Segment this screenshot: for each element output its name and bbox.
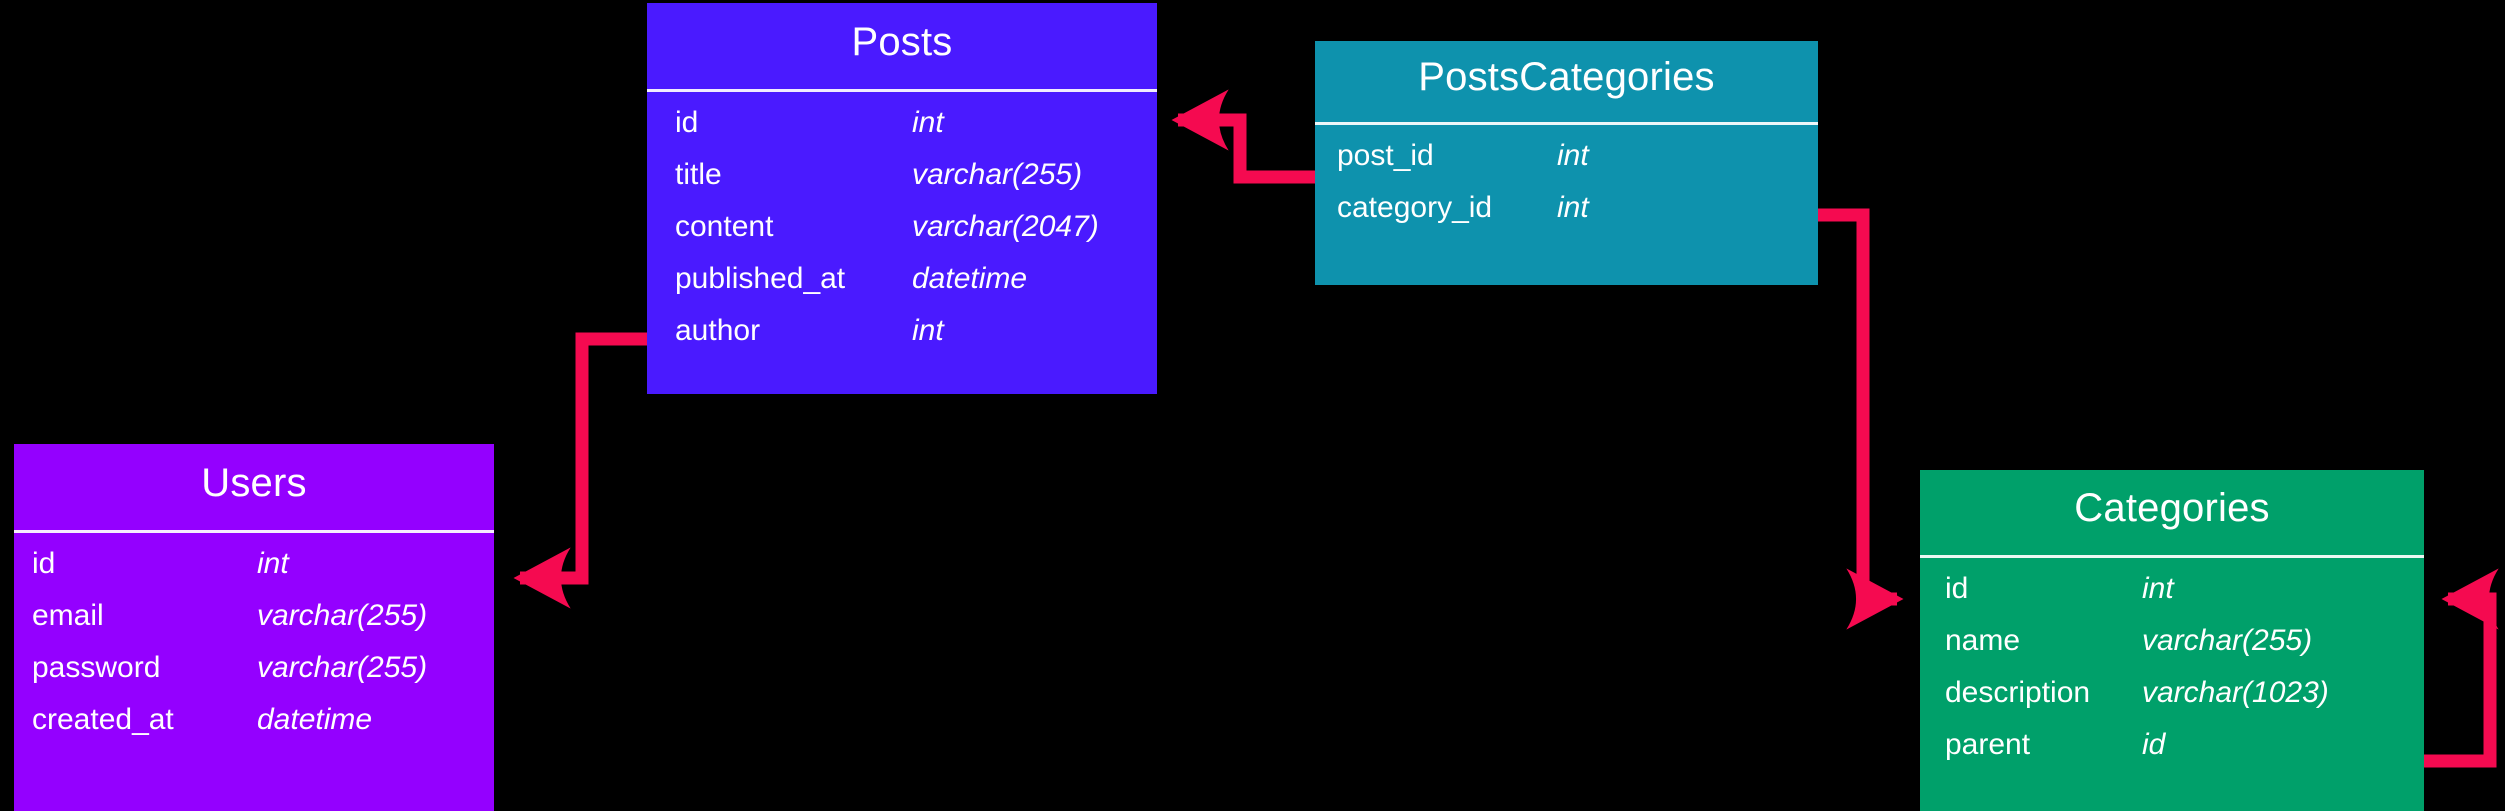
entity-title-postscategories: PostsCategories: [1315, 41, 1818, 122]
entity-table-posts[interactable]: Postsidinttitlevarchar(255)contentvarcha…: [647, 3, 1157, 394]
entity-table-categories[interactable]: Categoriesidintnamevarchar(255)descripti…: [1920, 470, 2424, 811]
field-name: published_at: [675, 264, 845, 294]
entity-title-users: Users: [14, 444, 494, 530]
field-name: id: [1945, 574, 1968, 604]
field-name: password: [32, 653, 160, 683]
entity-table-users[interactable]: Usersidintemailvarchar(255)passwordvarch…: [14, 444, 494, 811]
field-name: email: [32, 601, 104, 631]
field-type: varchar(1023): [2142, 678, 2329, 708]
field-name: id: [32, 549, 55, 579]
field-type: varchar(255): [257, 601, 427, 631]
field-type: varchar(255): [2142, 626, 2312, 656]
entity-title-posts: Posts: [647, 3, 1157, 89]
field-type: varchar(2047): [912, 212, 1099, 242]
field-type: int: [912, 316, 944, 346]
relationship-postscategories-post-id-to-posts-id[interactable]: [1178, 120, 1315, 177]
field-type: varchar(255): [912, 160, 1082, 190]
entity-fields-postscategories: post_idintcategory_idint: [1315, 125, 1818, 285]
field-name: created_at: [32, 705, 174, 735]
field-type: int: [1557, 141, 1589, 171]
field-type: int: [257, 549, 289, 579]
field-name: post_id: [1337, 141, 1434, 171]
relationship-posts-author-to-users-id[interactable]: [520, 339, 647, 578]
field-name: name: [1945, 626, 2020, 656]
entity-fields-users: idintemailvarchar(255)passwordvarchar(25…: [14, 533, 494, 811]
field-type: int: [1557, 193, 1589, 223]
field-name: title: [675, 160, 722, 190]
entity-table-postscategories[interactable]: PostsCategoriespost_idintcategory_idint: [1315, 41, 1818, 285]
field-name: author: [675, 316, 760, 346]
field-type: int: [2142, 574, 2174, 604]
field-type: varchar(255): [257, 653, 427, 683]
relationship-postscategories-category-id-to-categories-id[interactable]: [1818, 215, 1897, 599]
field-type: datetime: [912, 264, 1027, 294]
field-name: description: [1945, 678, 2090, 708]
field-name: category_id: [1337, 193, 1492, 223]
entity-fields-posts: idinttitlevarchar(255)contentvarchar(204…: [647, 92, 1157, 394]
er-diagram-canvas: Postsidinttitlevarchar(255)contentvarcha…: [0, 0, 2505, 811]
entity-fields-categories: idintnamevarchar(255)descriptionvarchar(…: [1920, 558, 2424, 811]
field-name: id: [675, 108, 698, 138]
field-type: id: [2142, 730, 2165, 760]
relationship-categories-parent-to-categories-id[interactable]: [2424, 599, 2490, 761]
field-type: datetime: [257, 705, 372, 735]
field-name: parent: [1945, 730, 2030, 760]
field-type: int: [912, 108, 944, 138]
field-name: content: [675, 212, 773, 242]
entity-title-categories: Categories: [1920, 470, 2424, 555]
